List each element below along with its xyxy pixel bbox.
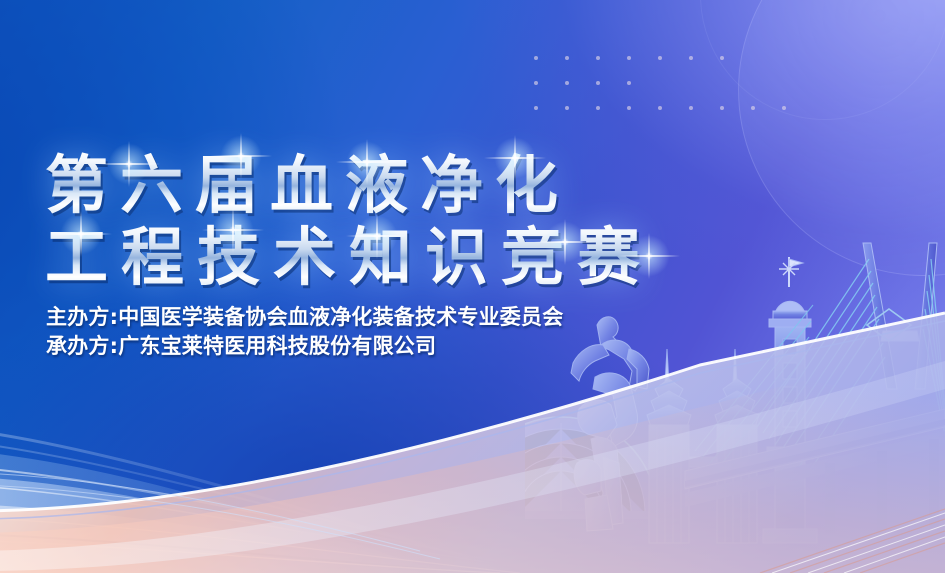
grid-dot [720,56,724,60]
grid-dot [658,56,662,60]
grid-dot [565,81,569,85]
organizer-line: 主办方:中国医学装备协会血液净化装备技术专业委员会 [46,303,563,332]
grid-dot [782,106,786,110]
grid-dot [751,106,755,110]
grid-dot [565,106,569,110]
grid-dot [720,106,724,110]
grid-dot [627,81,631,85]
grid-dot [534,106,538,110]
event-poster: 第六届血液净化 工程技术知识竞赛 主办方:中国医学装备协会血液净化装备技术专业委… [0,0,945,573]
sparkle-icon [349,208,405,264]
title-sparkle-layer [45,150,725,294]
co-organizer-line: 承办方:广东宝莱特医用科技股份有限公司 [46,332,563,361]
dot-grid-pattern [534,56,714,134]
sparkle-icon [205,202,261,258]
grid-dot [534,81,538,85]
poster-subtitle: 主办方:中国医学装备协会血液净化装备技术专业委员会 承办方:广东宝莱特医用科技股… [46,303,563,361]
sparkle-icon [621,228,677,284]
grid-dot [627,106,631,110]
grid-dot [658,106,662,110]
grid-dot [627,56,631,60]
grid-dot [596,56,600,60]
grid-dot [596,81,600,85]
grid-dot [534,56,538,60]
grid-dot [596,106,600,110]
sparkle-icon [537,214,593,270]
grid-dot [689,106,693,110]
sparkle-icon [53,206,109,262]
grid-dot [565,56,569,60]
poster-title: 第六届血液净化 工程技术知识竞赛 [45,150,725,294]
grid-dot [689,56,693,60]
